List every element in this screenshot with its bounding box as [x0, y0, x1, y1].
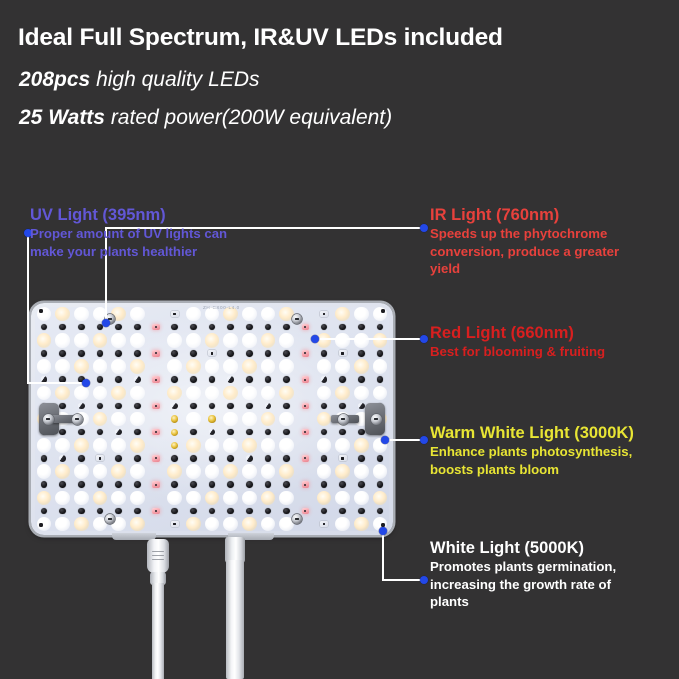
- callout-warm-white-desc-line-2: boosts plants bloom: [430, 461, 679, 478]
- callout-uv-title: UV Light (395nm): [30, 206, 310, 224]
- callout-warm-white-light: Warm White Light (3000K) Enhance plants …: [430, 424, 679, 478]
- callout-ir-description: Speeds up the phytochrome conversion, pr…: [430, 225, 679, 276]
- callout-ir-light: IR Light (760nm) Speeds up the phytochro…: [430, 206, 679, 277]
- power-cord-left: [152, 583, 164, 679]
- marker-dot-ir-panel: [102, 319, 110, 327]
- callout-red-desc-line-1: Best for blooming & fruiting: [430, 343, 679, 360]
- callout-uv-desc-line-1: Proper amount of UV lights can: [30, 225, 310, 242]
- power-cord-right: [226, 560, 244, 679]
- callout-ir-title: IR Light (760nm): [430, 206, 679, 224]
- callout-ir-desc-line-2: conversion, produce a greater: [430, 243, 679, 260]
- callout-ir-desc-line-3: yield: [430, 260, 679, 277]
- callout-white-desc-line-1: Promotes plants germination,: [430, 558, 679, 575]
- callout-white-desc-line-3: plants: [430, 593, 679, 610]
- infographic-canvas: Ideal Full Spectrum, IR&UV LEDs included…: [0, 0, 679, 679]
- callout-ir-desc-line-1: Speeds up the phytochrome: [430, 225, 679, 242]
- callout-warm-white-description: Enhance plants photosynthesis, boosts pl…: [430, 443, 679, 477]
- callout-uv-light: UV Light (395nm) Proper amount of UV lig…: [30, 206, 310, 260]
- callout-uv-description: Proper amount of UV lights can make your…: [30, 225, 310, 259]
- callout-red-description: Best for blooming & fruiting: [430, 343, 679, 360]
- callout-white-title: White Light (5000K): [430, 539, 679, 557]
- marker-dot-warm-white-panel: [381, 436, 389, 444]
- callout-red-title: Red Light (660nm): [430, 324, 679, 342]
- callout-warm-white-title: Warm White Light (3000K): [430, 424, 679, 442]
- marker-dot-white-text: [420, 576, 428, 584]
- marker-dot-warm-white-text: [420, 436, 428, 444]
- callout-warm-white-desc-line-1: Enhance plants photosynthesis,: [430, 443, 679, 460]
- marker-dot-uv-panel: [82, 379, 90, 387]
- callout-uv-desc-line-2: make your plants healthier: [30, 243, 310, 260]
- callout-white-desc-line-2: increasing the growth rate of: [430, 576, 679, 593]
- marker-dot-ir-text: [420, 224, 428, 232]
- callout-white-description: Promotes plants germination, increasing …: [430, 558, 679, 609]
- marker-dot-red-text: [420, 335, 428, 343]
- callout-red-light: Red Light (660nm) Best for blooming & fr…: [430, 324, 679, 361]
- marker-dot-red-panel: [311, 335, 319, 343]
- callout-white-light: White Light (5000K) Promotes plants germ…: [430, 539, 679, 610]
- marker-dot-white-panel: [379, 527, 387, 535]
